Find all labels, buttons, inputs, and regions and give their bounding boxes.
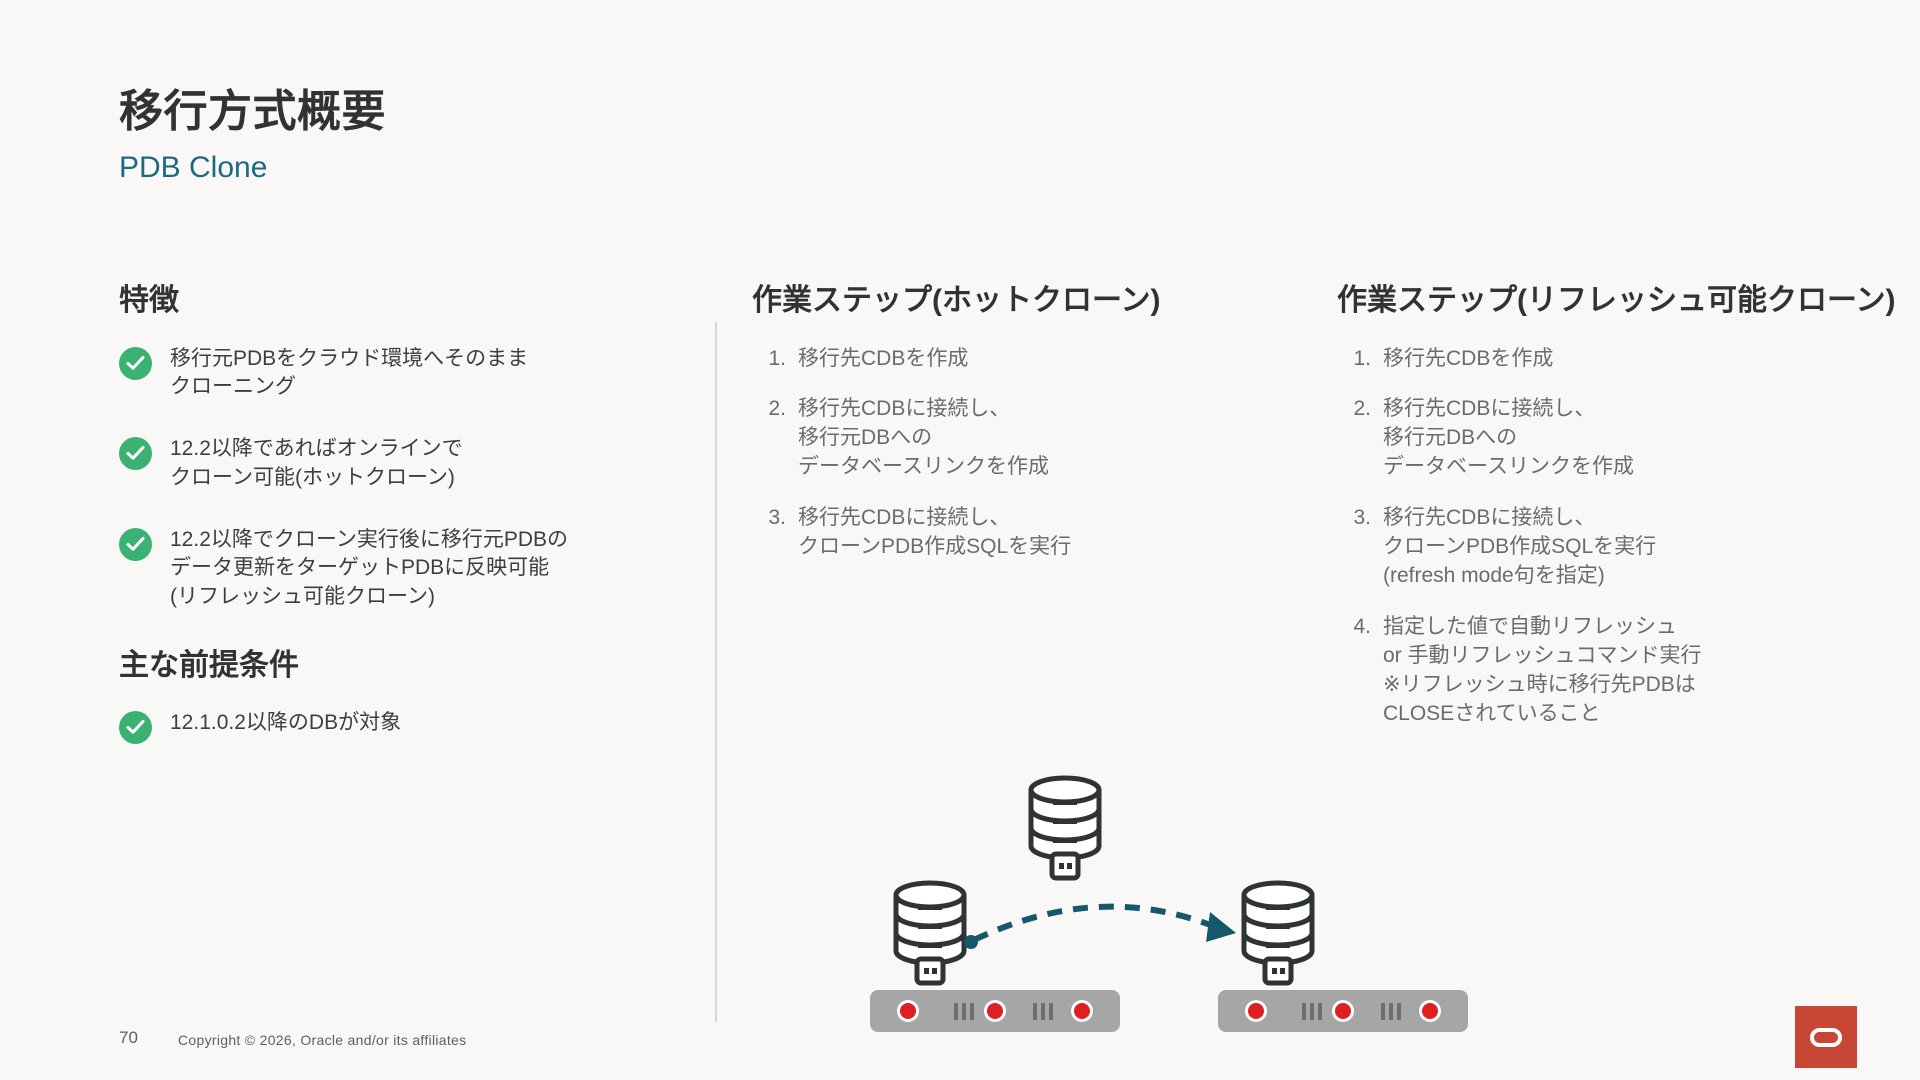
prerequisite-text: 12.1.0.2以降のDBが対象: [170, 709, 401, 737]
page-number: 70: [119, 1028, 138, 1048]
list-item: 4. 指定した値で自動リフレッシュ or 手動リフレッシュコマンド実行 ※リフレ…: [1337, 613, 1897, 729]
feature-text: 移行元PDBをクラウド環境へそのまま クローニング: [170, 345, 528, 402]
prerequisites-list: 12.1.0.2以降のDBが対象: [119, 709, 709, 744]
page-subtitle: PDB Clone: [119, 150, 386, 186]
column-divider: [715, 322, 717, 1022]
clone-diagram-svg: [870, 770, 1530, 1040]
copyright-text: Copyright © 2026, Oracle and/or its affi…: [178, 1032, 466, 1048]
title-block: 移行方式概要 PDB Clone: [119, 88, 386, 186]
list-item: 2. 移行先CDBに接続し、 移行元DBへの データベースリンクを作成: [752, 395, 1222, 482]
check-circle-icon: [119, 437, 152, 470]
server-rack-icon-target: [1218, 990, 1468, 1032]
list-item: 2. 移行先CDBに接続し、 移行元DBへの データベースリンクを作成: [1337, 395, 1897, 482]
clone-diagram: [870, 770, 1530, 1040]
step-text: 移行先CDBを作成: [1383, 345, 1553, 374]
feature-text: 12.2以降であればオンラインで クローン可能(ホットクローン): [170, 435, 463, 492]
hot-clone-step-list: 1. 移行先CDBを作成 2. 移行先CDBに接続し、 移行元DBへの データベ…: [752, 345, 1222, 563]
list-item: 12.1.0.2以降のDBが対象: [119, 709, 709, 744]
list-item: 3. 移行先CDBに接続し、 クローンPDB作成SQLを実行: [752, 504, 1222, 562]
step-number: 4.: [1337, 613, 1371, 642]
database-cylinder-icon-source: [896, 883, 964, 983]
step-number: 2.: [752, 395, 786, 424]
step-number: 3.: [752, 504, 786, 533]
step-text: 移行先CDBに接続し、 クローンPDB作成SQLを実行 (refresh mod…: [1383, 504, 1656, 591]
dashed-curved-arrow-icon: [964, 907, 1236, 949]
check-circle-icon: [119, 528, 152, 561]
list-item: 1. 移行先CDBを作成: [752, 345, 1222, 374]
step-number: 3.: [1337, 504, 1371, 533]
refreshable-clone-heading: 作業ステップ(リフレッシュ可能クローン): [1337, 284, 1897, 319]
step-text: 移行先CDBを作成: [798, 345, 968, 374]
refreshable-clone-step-list: 1. 移行先CDBを作成 2. 移行先CDBに接続し、 移行元DBへの データベ…: [1337, 345, 1897, 730]
step-text: 移行先CDBに接続し、 移行元DBへの データベースリンクを作成: [798, 395, 1049, 482]
features-heading: 特徴: [119, 284, 709, 319]
list-item: 12.2以降であればオンラインで クローン可能(ホットクローン): [119, 435, 709, 492]
list-item: 12.2以降でクローン実行後に移行元PDBの データ更新をターゲットPDBに反映…: [119, 526, 709, 611]
list-item: 3. 移行先CDBに接続し、 クローンPDB作成SQLを実行 (refresh …: [1337, 504, 1897, 591]
slide-canvas: 移行方式概要 PDB Clone 特徴 移行元PDBをクラウド環境へそのまま ク…: [0, 0, 1920, 1080]
features-list: 移行元PDBをクラウド環境へそのまま クローニング 12.2以降であればオンライ…: [119, 345, 709, 611]
features-column: 特徴 移行元PDBをクラウド環境へそのまま クローニング 12.2以降であればオ…: [119, 284, 709, 744]
database-cylinder-icon-top: [1031, 778, 1099, 878]
list-item: 1. 移行先CDBを作成: [1337, 345, 1897, 374]
page-title: 移行方式概要: [119, 88, 386, 136]
oracle-logo-icon: [1795, 1006, 1857, 1068]
refreshable-clone-steps-column: 作業ステップ(リフレッシュ可能クローン) 1. 移行先CDBを作成 2. 移行先…: [1337, 284, 1897, 729]
step-number: 1.: [1337, 345, 1371, 374]
step-number: 1.: [752, 345, 786, 374]
oracle-o-shape: [1810, 1028, 1842, 1047]
check-circle-icon: [119, 711, 152, 744]
step-text: 移行先CDBに接続し、 クローンPDB作成SQLを実行: [798, 504, 1071, 562]
step-text: 移行先CDBに接続し、 移行元DBへの データベースリンクを作成: [1383, 395, 1634, 482]
hot-clone-steps-column: 作業ステップ(ホットクローン) 1. 移行先CDBを作成 2. 移行先CDBに接…: [752, 284, 1222, 562]
list-item: 移行元PDBをクラウド環境へそのまま クローニング: [119, 345, 709, 402]
server-rack-icon-source: [870, 990, 1120, 1032]
database-cylinder-icon-target: [1244, 883, 1312, 983]
prerequisites-heading: 主な前提条件: [119, 649, 709, 684]
hot-clone-heading: 作業ステップ(ホットクローン): [752, 284, 1222, 319]
step-text: 指定した値で自動リフレッシュ or 手動リフレッシュコマンド実行 ※リフレッシュ…: [1383, 613, 1702, 729]
step-number: 2.: [1337, 395, 1371, 424]
check-circle-icon: [119, 347, 152, 380]
feature-text: 12.2以降でクローン実行後に移行元PDBの データ更新をターゲットPDBに反映…: [170, 526, 568, 611]
